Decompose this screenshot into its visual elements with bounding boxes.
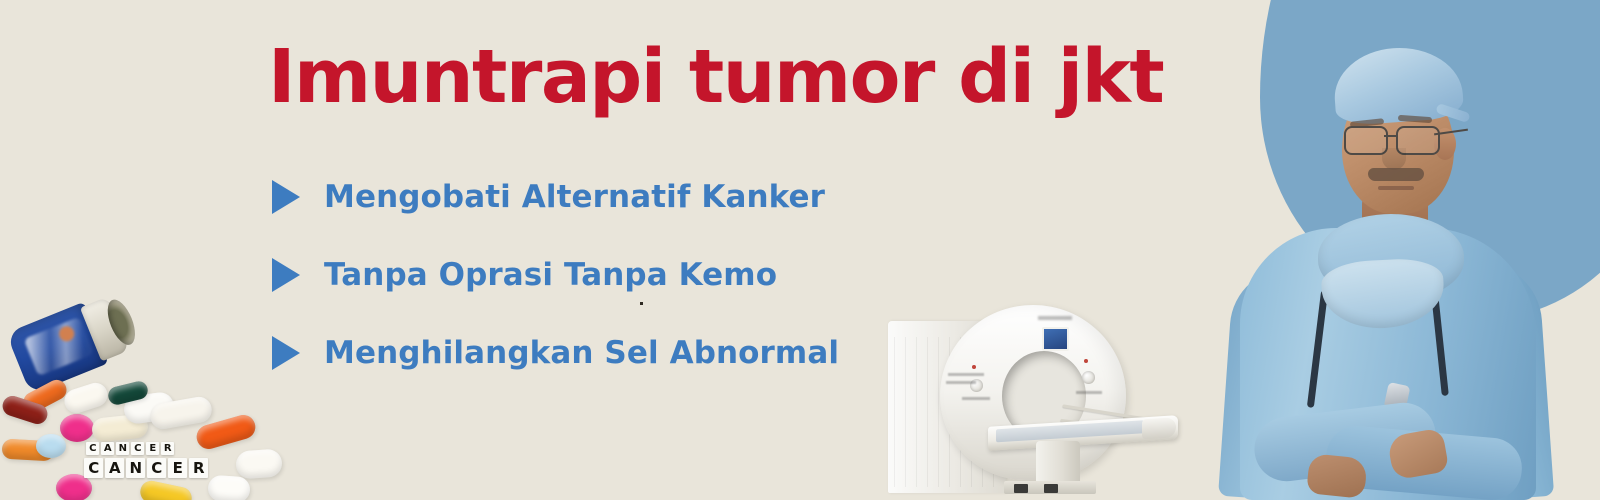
letter-tile: E — [168, 458, 187, 478]
benefit-list: Mengobati Alternatif Kanker Tanpa Oprasi… — [272, 158, 839, 392]
scanner-table-end — [1142, 417, 1176, 439]
pill-bottle — [6, 288, 144, 395]
scanner-display-panel — [1042, 327, 1069, 351]
letter-tile: R — [161, 442, 174, 455]
scanner-indicator-light — [1084, 359, 1088, 363]
letter-tile: N — [116, 442, 129, 455]
bottle-label — [24, 317, 95, 377]
letter-tile: C — [131, 442, 144, 455]
doctor-mouth — [1378, 186, 1414, 190]
benefit-label: Menghilangkan Sel Abnormal — [324, 335, 839, 371]
pill-oval — [235, 448, 283, 479]
triangle-right-icon — [272, 258, 300, 292]
cancer-tiles-row-upper: CANCER — [86, 442, 174, 455]
scanner-model-text — [948, 373, 984, 376]
letter-tile: A — [101, 442, 114, 455]
list-item: Menghilangkan Sel Abnormal — [272, 314, 839, 392]
scanner-indicator-light — [972, 365, 976, 369]
scanner-control-knob[interactable] — [1082, 371, 1095, 384]
scanner-brand-mark — [1038, 316, 1072, 320]
pill-capsule — [138, 479, 193, 500]
scanner-label-text — [962, 397, 990, 400]
pill-tablet — [36, 434, 66, 458]
letter-tile: A — [105, 458, 124, 478]
letter-tile: R — [189, 458, 208, 478]
benefit-label: Mengobati Alternatif Kanker — [324, 179, 825, 215]
letter-tile: C — [84, 458, 103, 478]
promo-banner: Imuntrapi tumor di jkt Mengobati Alterna… — [0, 0, 1600, 500]
ct-scanner — [880, 305, 1190, 500]
triangle-right-icon — [272, 180, 300, 214]
pill-tablet — [60, 414, 94, 442]
scanner-model-text — [946, 381, 976, 384]
benefit-label: Tanpa Oprasi Tanpa Kemo — [324, 257, 777, 293]
letter-tile: E — [146, 442, 159, 455]
letter-tile: N — [126, 458, 145, 478]
letter-tile: C — [86, 442, 99, 455]
triangle-right-icon — [272, 336, 300, 370]
scanner-gantry — [940, 305, 1126, 480]
list-item: Mengobati Alternatif Kanker — [272, 158, 839, 236]
scanner-base — [1004, 481, 1096, 494]
scanner-base-pad — [1014, 484, 1028, 493]
doctor-figure — [1222, 32, 1552, 500]
letter-tile: C — [147, 458, 166, 478]
scanner-label-text — [1076, 391, 1102, 394]
list-item: Tanpa Oprasi Tanpa Kemo — [272, 236, 839, 314]
image-speck-artifact — [640, 302, 643, 305]
glasses-bridge — [1384, 135, 1396, 137]
pill-oval — [207, 475, 251, 500]
scanner-base-pad — [1044, 484, 1058, 493]
pill-bottle-illustration: CANCER CANCER — [0, 300, 300, 500]
pill-oval — [61, 380, 110, 416]
cancer-tiles-row-lower: CANCER — [84, 458, 208, 478]
doctor-mustache — [1368, 168, 1424, 181]
page-title: Imuntrapi tumor di jkt — [268, 40, 1163, 115]
